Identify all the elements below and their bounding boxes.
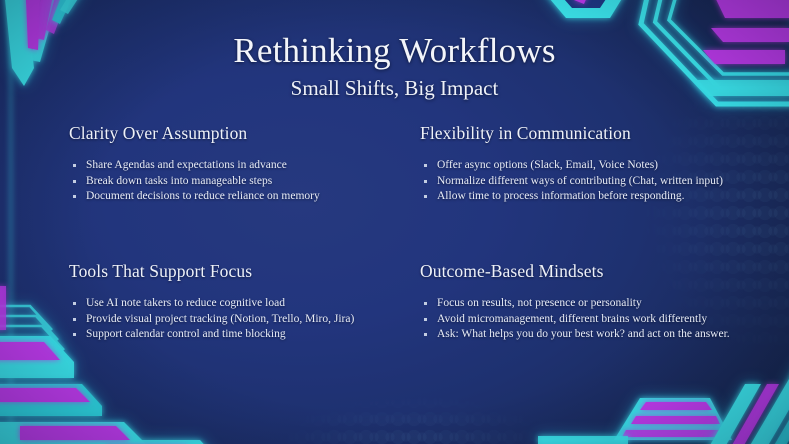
slide-content: Rethinking Workflows Small Shifts, Big I… [0,0,789,444]
list-item: Break down tasks into manageable steps [69,174,399,189]
slide-subtitle: Small Shifts, Big Impact [0,76,789,101]
list-item: Avoid micromanagement, different brains … [420,312,770,327]
list-item: Provide visual project tracking (Notion,… [69,312,399,327]
section-heading: Tools That Support Focus [69,261,399,282]
list-item: Focus on results, not presence or person… [420,296,770,311]
list-item: Normalize different ways of contributing… [420,174,770,189]
list-item: Document decisions to reduce reliance on… [69,189,399,204]
section-bullet-list: Use AI note takers to reduce cognitive l… [69,296,399,343]
section-outcome-based-mindsets: Outcome-Based Mindsets Focus on results,… [420,261,770,343]
list-item: Allow time to process information before… [420,189,770,204]
list-item: Ask: What helps you do your best work? a… [420,327,770,342]
slide-canvas: Rethinking Workflows Small Shifts, Big I… [0,0,789,444]
list-item: Share Agendas and expectations in advanc… [69,158,399,173]
list-item: Support calendar control and time blocki… [69,327,399,342]
section-heading: Flexibility in Communication [420,123,770,144]
section-bullet-list: Focus on results, not presence or person… [420,296,770,343]
section-heading: Clarity Over Assumption [69,123,399,144]
section-heading: Outcome-Based Mindsets [420,261,770,282]
section-tools-that-support-focus: Tools That Support Focus Use AI note tak… [69,261,399,343]
section-bullet-list: Share Agendas and expectations in advanc… [69,158,399,205]
slide-title: Rethinking Workflows [0,33,789,70]
list-item: Offer async options (Slack, Email, Voice… [420,158,770,173]
section-flexibility-in-communication: Flexibility in Communication Offer async… [420,123,770,205]
section-clarity-over-assumption: Clarity Over Assumption Share Agendas an… [69,123,399,205]
list-item: Use AI note takers to reduce cognitive l… [69,296,399,311]
section-bullet-list: Offer async options (Slack, Email, Voice… [420,158,770,205]
